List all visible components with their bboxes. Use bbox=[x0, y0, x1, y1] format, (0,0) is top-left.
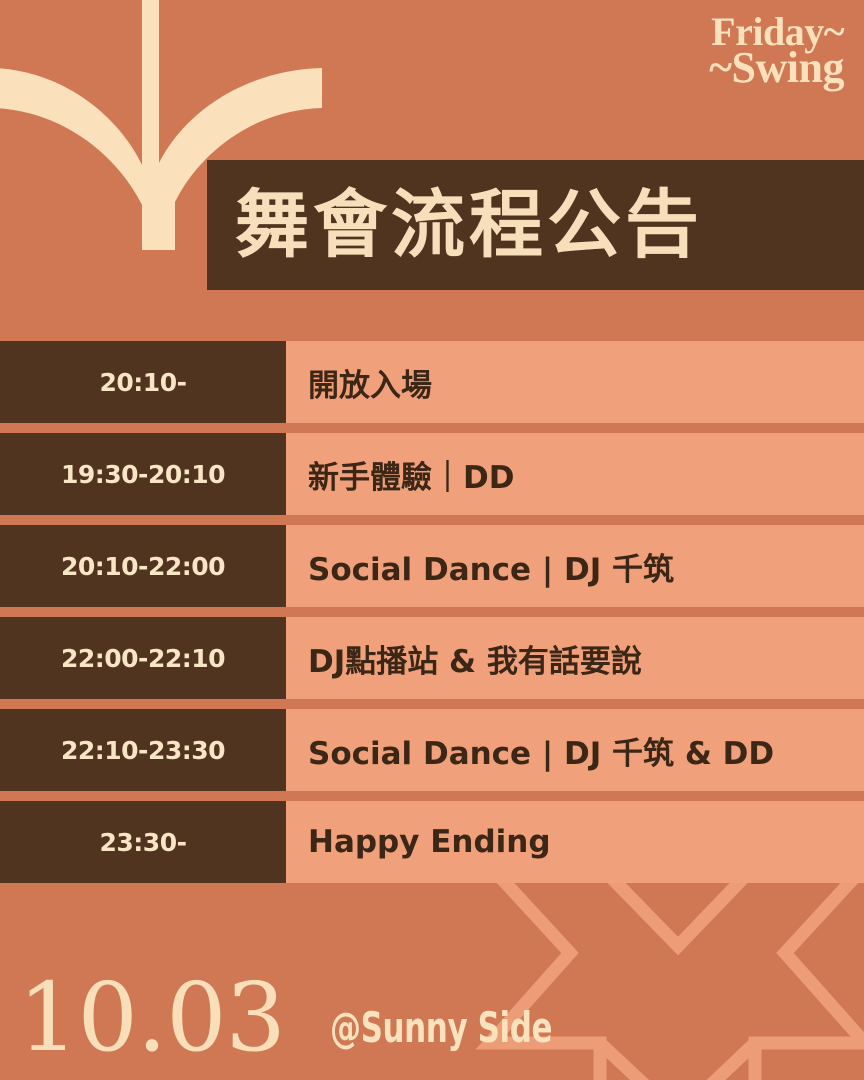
schedule-time-cell: 20:10- bbox=[0, 341, 286, 423]
schedule-time-label: 20:10-22:00 bbox=[61, 552, 225, 581]
schedule-row: 22:00-22:10 DJ點播站 & 我有話要說 bbox=[0, 617, 864, 699]
page-title: 舞會流程公告 bbox=[235, 188, 703, 262]
schedule-event-label: Happy Ending bbox=[308, 824, 551, 860]
schedule-event-cell: Social Dance | DJ 千筑 bbox=[288, 525, 864, 607]
schedule-time-label: 22:00-22:10 bbox=[61, 644, 225, 673]
schedule-event-label: 開放入場 bbox=[308, 360, 432, 405]
schedule-event-cell: 開放入場 bbox=[288, 341, 864, 423]
schedule-event-cell: 新手體驗｜DD bbox=[288, 433, 864, 515]
schedule-time-label: 22:10-23:30 bbox=[61, 736, 225, 765]
schedule-event-cell: Social Dance | DJ 千筑 & DD bbox=[288, 709, 864, 791]
title-banner: 舞會流程公告 bbox=[207, 160, 864, 290]
schedule-time-cell: 22:00-22:10 bbox=[0, 617, 286, 699]
event-date: 10.03 bbox=[18, 975, 285, 1062]
schedule-row: 23:30- Happy Ending bbox=[0, 801, 864, 883]
schedule-event-label: DJ點播站 & 我有話要說 bbox=[308, 636, 642, 681]
schedule-event-label: Social Dance | DJ 千筑 bbox=[308, 544, 674, 589]
schedule-row: 20:10- 開放入場 bbox=[0, 341, 864, 423]
schedule-list: 20:10- 開放入場 19:30-20:10 新手體驗｜DD 20:10-22… bbox=[0, 341, 864, 883]
event-venue: @Sunny Side bbox=[330, 1003, 552, 1052]
schedule-event-cell: Happy Ending bbox=[288, 801, 864, 883]
schedule-time-label: 20:10- bbox=[100, 368, 187, 397]
schedule-time-cell: 20:10-22:00 bbox=[0, 525, 286, 607]
schedule-time-cell: 22:10-23:30 bbox=[0, 709, 286, 791]
schedule-row: 19:30-20:10 新手體驗｜DD bbox=[0, 433, 864, 515]
schedule-time-cell: 19:30-20:10 bbox=[0, 433, 286, 515]
schedule-time-cell: 23:30- bbox=[0, 801, 286, 883]
schedule-event-cell: DJ點播站 & 我有話要說 bbox=[288, 617, 864, 699]
schedule-time-label: 19:30-20:10 bbox=[61, 460, 225, 489]
schedule-event-label: Social Dance | DJ 千筑 & DD bbox=[308, 728, 774, 773]
schedule-row: 22:10-23:30 Social Dance | DJ 千筑 & DD bbox=[0, 709, 864, 791]
schedule-time-label: 23:30- bbox=[100, 828, 187, 857]
brand-logo: Friday~ ~Swing bbox=[584, 14, 844, 88]
poster-canvas: Friday~ ~Swing 舞會流程公告 20:10- 開放入場 19:30-… bbox=[0, 0, 864, 1080]
schedule-event-label: 新手體驗｜DD bbox=[308, 452, 514, 497]
schedule-row: 20:10-22:00 Social Dance | DJ 千筑 bbox=[0, 525, 864, 607]
brand-logo-line2: ~Swing bbox=[584, 49, 844, 88]
